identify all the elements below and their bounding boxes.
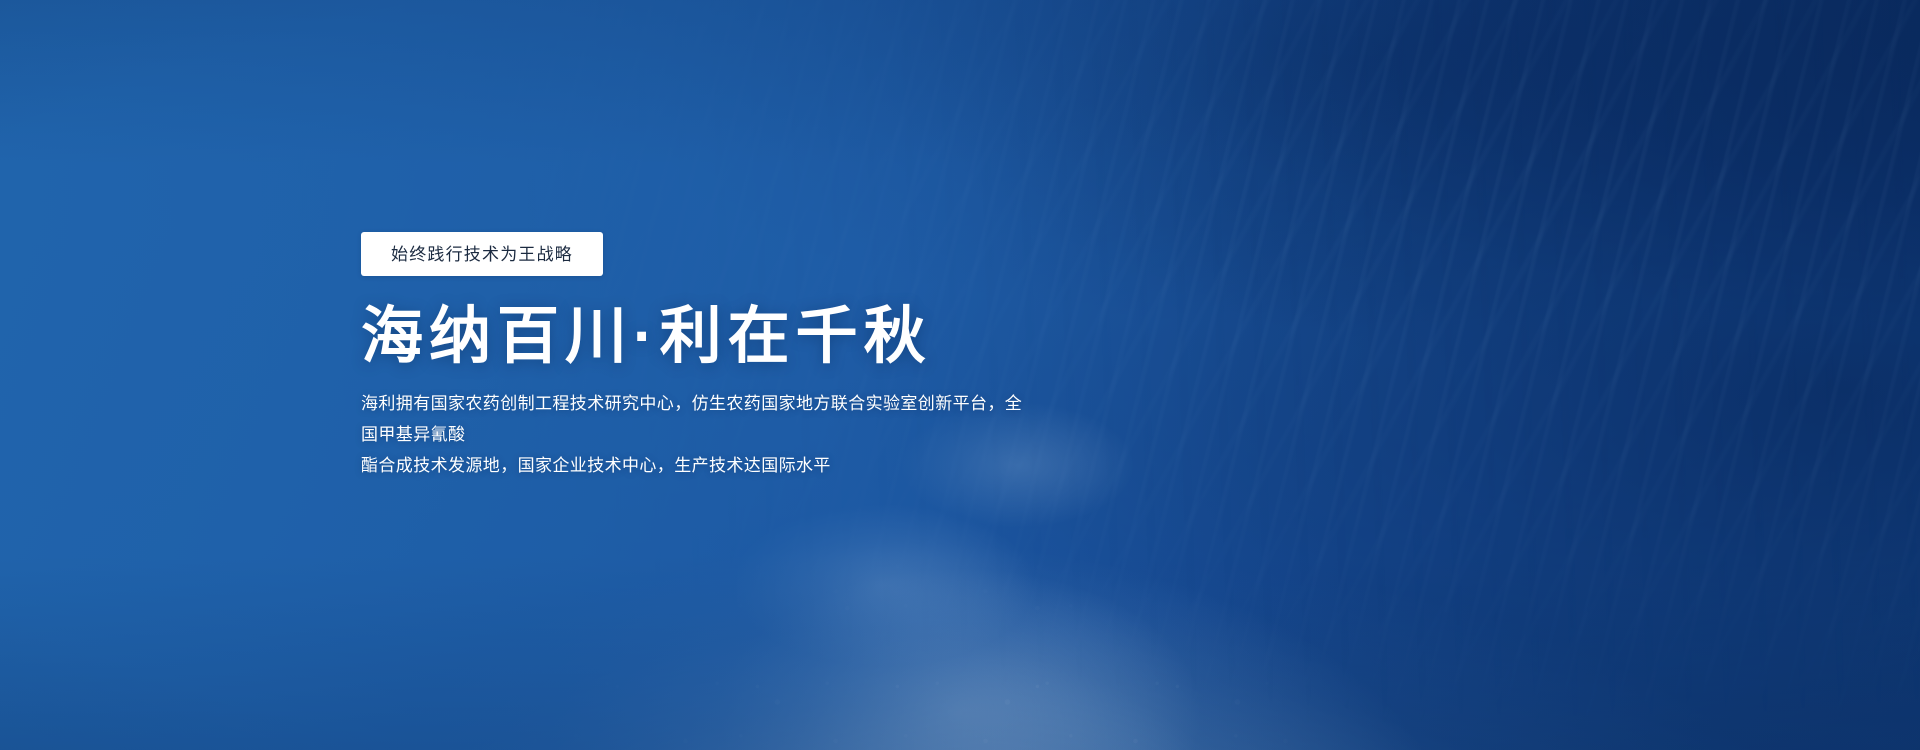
hero-description-line-2: 酯合成技术发源地，国家企业技术中心，生产技术达国际水平 — [361, 450, 1027, 481]
strategy-badge: 始终践行技术为王战略 — [361, 232, 603, 276]
hero-headline: 海纳百川·利在千秋 — [361, 304, 1041, 370]
hero-content: 始终践行技术为王战略 海纳百川·利在千秋 海利拥有国家农药创制工程技术研究中心，… — [361, 232, 1041, 481]
hero-banner: 始终践行技术为王战略 海纳百川·利在千秋 海利拥有国家农药创制工程技术研究中心，… — [0, 0, 1920, 750]
hero-description-line-1: 海利拥有国家农药创制工程技术研究中心，仿生农药国家地方联合实验室创新平台，全国甲… — [361, 388, 1027, 450]
hero-description: 海利拥有国家农药创制工程技术研究中心，仿生农药国家地方联合实验室创新平台，全国甲… — [361, 388, 1027, 481]
